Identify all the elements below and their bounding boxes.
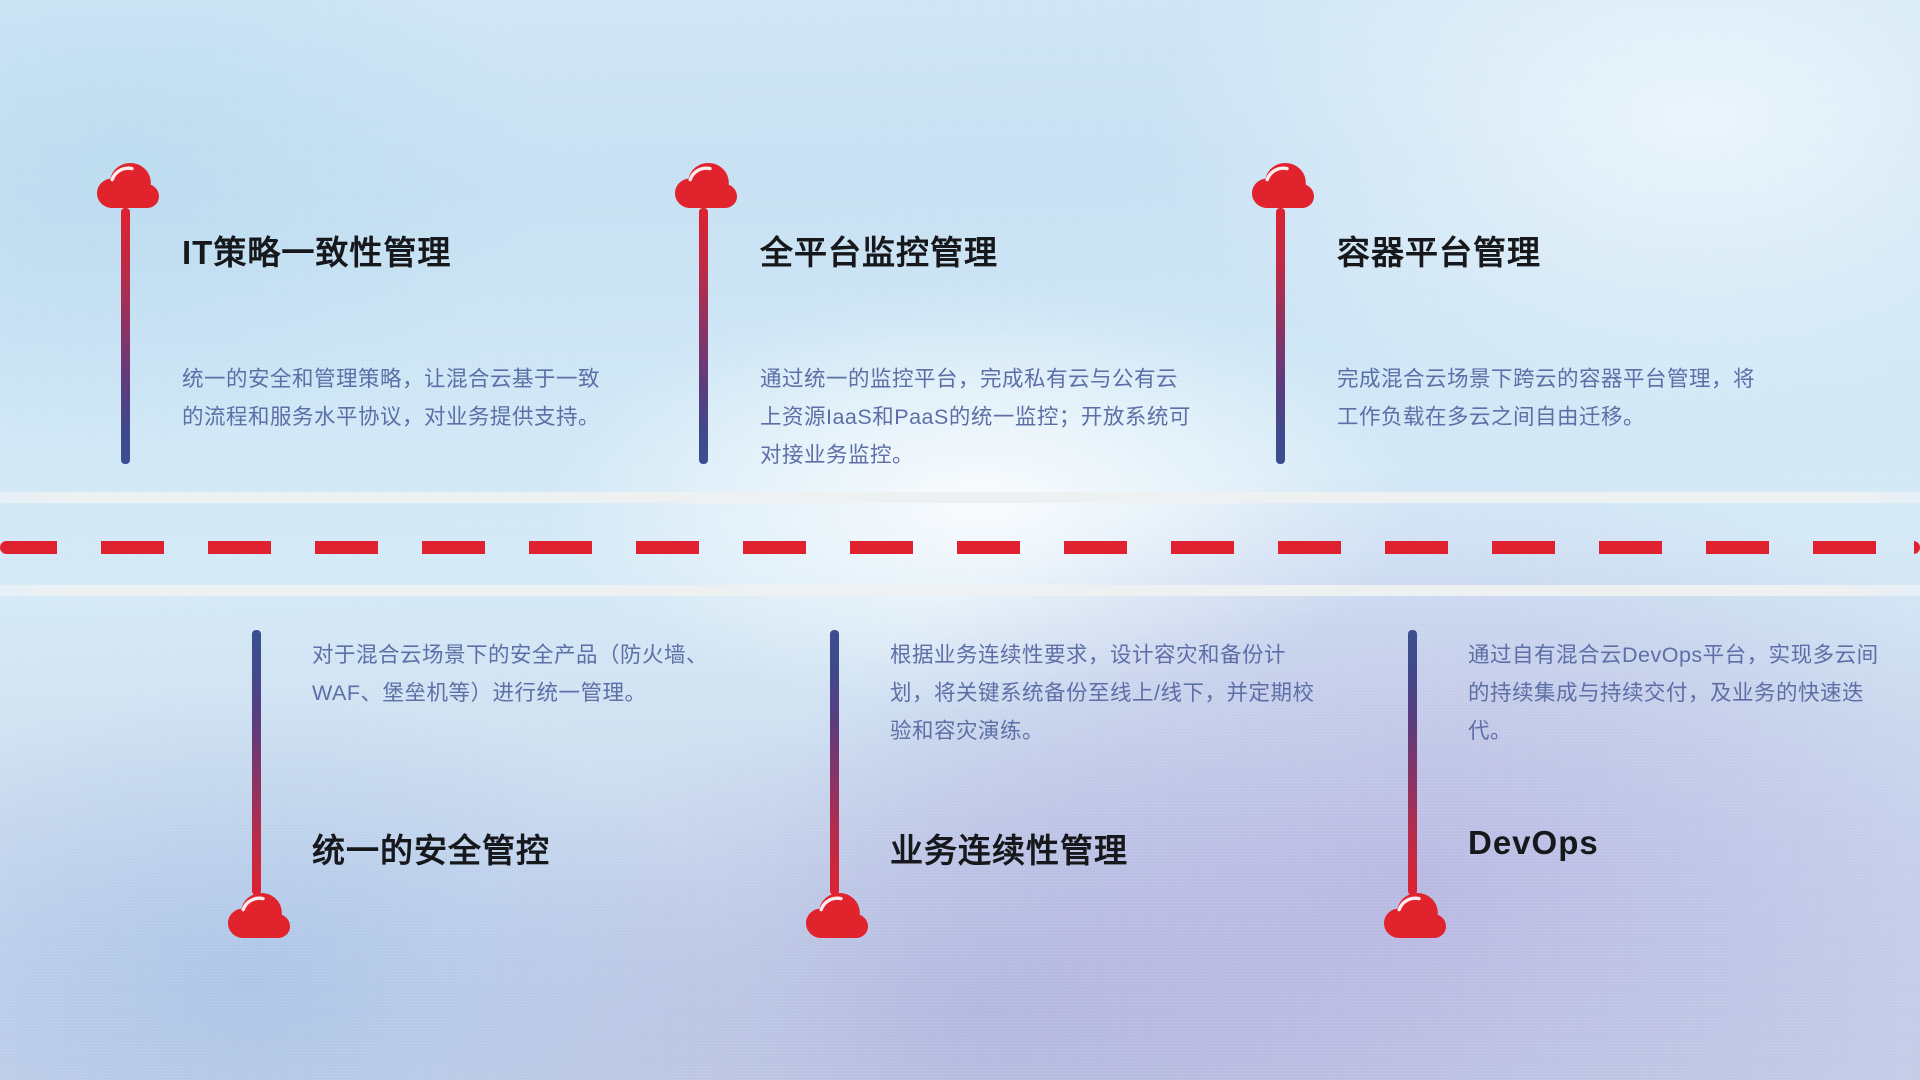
connector-stem [830,630,839,895]
connector-stem [121,208,130,464]
card-title: 业务连续性管理 [890,824,1128,872]
divider-band-upper [0,492,1920,503]
card-title: 统一的安全管控 [312,824,550,872]
cloud-icon [97,163,159,209]
cloud-icon [806,893,868,939]
card-body: 完成混合云场景下跨云的容器平台管理，将工作负载在多云之间自由迁移。 [1337,360,1769,436]
card-body: 对于混合云场景下的安全产品（防火墙、WAF、堡垒机等）进行统一管理。 [312,636,744,712]
card-body: 统一的安全和管理策略，让混合云基于一致的流程和服务水平协议，对业务提供支持。 [182,360,614,436]
card-body: 通过统一的监控平台，完成私有云与公有云上资源IaaS和PaaS的统一监控；开放系… [760,360,1192,474]
cloud-icon [675,163,737,209]
connector-stem [699,208,708,464]
card-body: 通过自有混合云DevOps平台，实现多云间的持续集成与持续交付，及业务的快速迭代… [1468,636,1900,750]
divider-dashed-line [0,541,1920,554]
divider-band-lower [0,585,1920,596]
cloud-icon [1252,163,1314,209]
card-title: DevOps [1468,824,1599,862]
connector-stem [252,630,261,895]
cloud-icon [228,893,290,939]
card-title: IT策略一致性管理 [182,226,451,274]
card-title: 全平台监控管理 [760,226,998,274]
card-body: 根据业务连续性要求，设计容灾和备份计划，将关键系统备份至线上/线下，并定期校验和… [890,636,1322,750]
connector-stem [1408,630,1417,895]
cloud-icon [1384,893,1446,939]
infographic-canvas: IT策略一致性管理 统一的安全和管理策略，让混合云基于一致的流程和服务水平协议，… [0,0,1920,1080]
connector-stem [1276,208,1285,464]
card-title: 容器平台管理 [1337,226,1541,274]
